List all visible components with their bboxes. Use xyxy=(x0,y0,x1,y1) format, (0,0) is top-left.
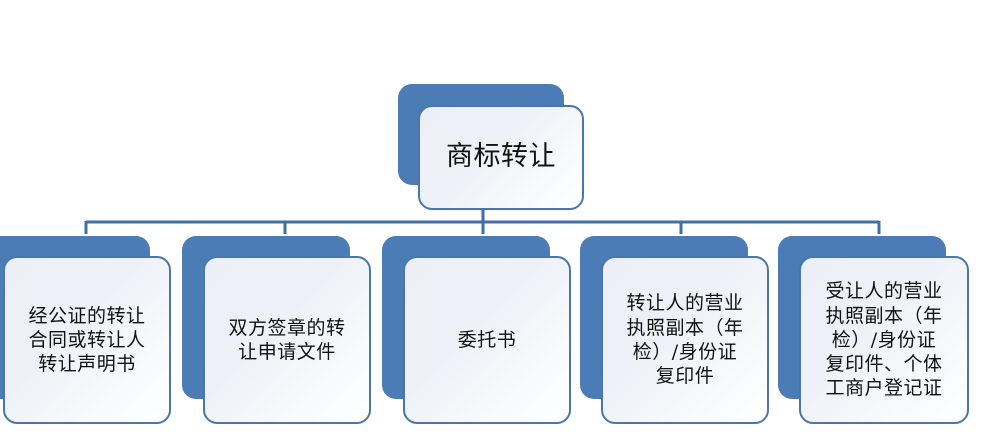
node-child-2-card[interactable]: 双方签章的转 让申请文件 xyxy=(203,256,371,424)
node-child-2-label: 双方签章的转 让申请文件 xyxy=(224,316,349,365)
node-child-4-label: 转让人的营业 执照副本（年 检）/身份证 复印件 xyxy=(622,291,747,388)
node-child-5-label: 受让人的营业 执照副本（年 检）/身份证 复印件、个体 工商户登记证 xyxy=(821,279,946,401)
node-child-4[interactable]: 转让人的营业 执照副本（年 检）/身份证 复印件 xyxy=(580,236,790,436)
node-child-1-card[interactable]: 经公证的转让 合同或转让人 转让声明书 xyxy=(3,256,171,424)
node-root-label: 商标转让 xyxy=(442,140,560,175)
node-child-1[interactable]: 经公证的转让 合同或转让人 转让声明书 xyxy=(0,236,192,436)
node-child-5-card[interactable]: 受让人的营业 执照副本（年 检）/身份证 复印件、个体 工商户登记证 xyxy=(799,256,969,424)
node-root-card[interactable]: 商标转让 xyxy=(418,105,584,210)
org-chart-diagram: 商标转让 经公证的转让 合同或转让人 转让声明书 双方签章的转 让申请文件 委托… xyxy=(0,0,994,424)
node-child-3-card[interactable]: 委托书 xyxy=(403,256,571,424)
node-root[interactable]: 商标转让 xyxy=(398,84,588,212)
node-child-1-label: 经公证的转让 合同或转让人 转让声明书 xyxy=(24,304,149,377)
node-child-2[interactable]: 双方签章的转 让申请文件 xyxy=(182,236,392,436)
node-child-5[interactable]: 受让人的营业 执照副本（年 检）/身份证 复印件、个体 工商户登记证 xyxy=(778,236,990,436)
node-child-3[interactable]: 委托书 xyxy=(382,236,592,436)
node-child-3-label: 委托书 xyxy=(454,328,521,352)
node-child-4-card[interactable]: 转让人的营业 执照副本（年 检）/身份证 复印件 xyxy=(601,256,769,424)
